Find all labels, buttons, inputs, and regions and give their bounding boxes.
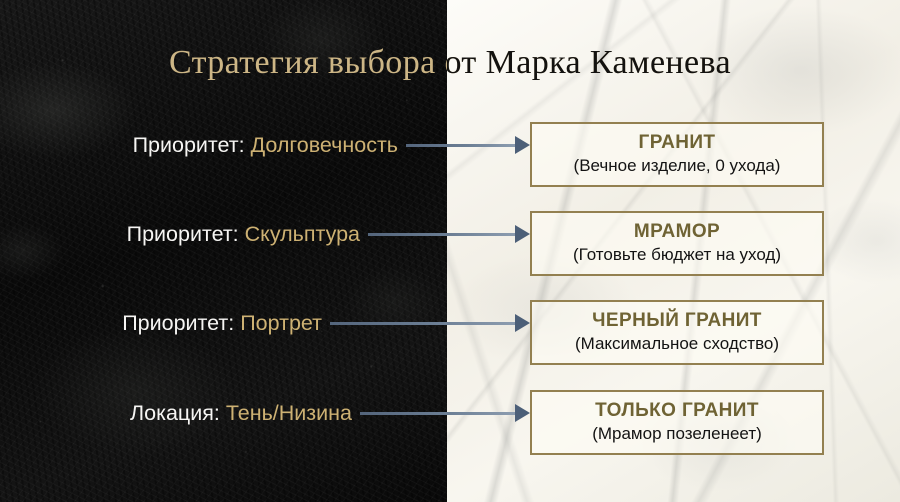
recommendation-box-3[interactable]: ЧЕРНЫЙ ГРАНИТ(Максимальное сходство)	[530, 300, 824, 365]
criteria-label-inner: Приоритет: Портрет	[122, 306, 322, 340]
recommendation-box-1[interactable]: ГРАНИТ(Вечное изделие, 0 ухода)	[530, 122, 824, 187]
criteria-key: Приоритет:	[133, 133, 245, 157]
criteria-value: Тень/Низина	[226, 401, 352, 425]
criteria-value: Портрет	[240, 311, 322, 335]
criteria-key: Приоритет:	[127, 222, 239, 246]
criteria-key: Локация:	[130, 401, 220, 425]
criteria-label-inner: Локация: Тень/Низина	[130, 396, 352, 430]
recommendation-box-2[interactable]: МРАМОР(Готовьте бюджет на уход)	[530, 211, 824, 276]
recommendation-subtitle: (Мрамор позеленеет)	[592, 423, 762, 445]
criteria-value: Скульптура	[245, 222, 360, 246]
criteria-label-2: Приоритет: Скульптура	[0, 217, 360, 251]
recommendation-box-4[interactable]: ТОЛЬКО ГРАНИТ(Мрамор позеленеет)	[530, 390, 824, 455]
criteria-value: Долговечность	[251, 133, 398, 157]
recommendation-subtitle: (Готовьте бюджет на уход)	[573, 244, 781, 266]
criteria-label-4: Локация: Тень/Низина	[0, 396, 352, 430]
recommendation-title: МРАМОР	[634, 221, 720, 243]
recommendation-subtitle: (Вечное изделие, 0 ухода)	[574, 155, 781, 177]
criteria-label-inner: Приоритет: Скульптура	[127, 217, 360, 251]
criteria-key: Приоритет:	[122, 311, 234, 335]
recommendation-title: ЧЕРНЫЙ ГРАНИТ	[592, 310, 762, 332]
criteria-label-inner: Приоритет: Долговечность	[133, 128, 398, 162]
recommendation-title: ГРАНИТ	[639, 132, 716, 154]
criteria-label-1: Приоритет: Долговечность	[0, 128, 398, 162]
recommendation-subtitle: (Максимальное сходство)	[575, 333, 779, 355]
recommendation-title: ТОЛЬКО ГРАНИТ	[595, 400, 759, 422]
slide-canvas: Стратегия выбора от Марка Каменева Страт…	[0, 0, 900, 502]
criteria-label-3: Приоритет: Портрет	[0, 306, 322, 340]
